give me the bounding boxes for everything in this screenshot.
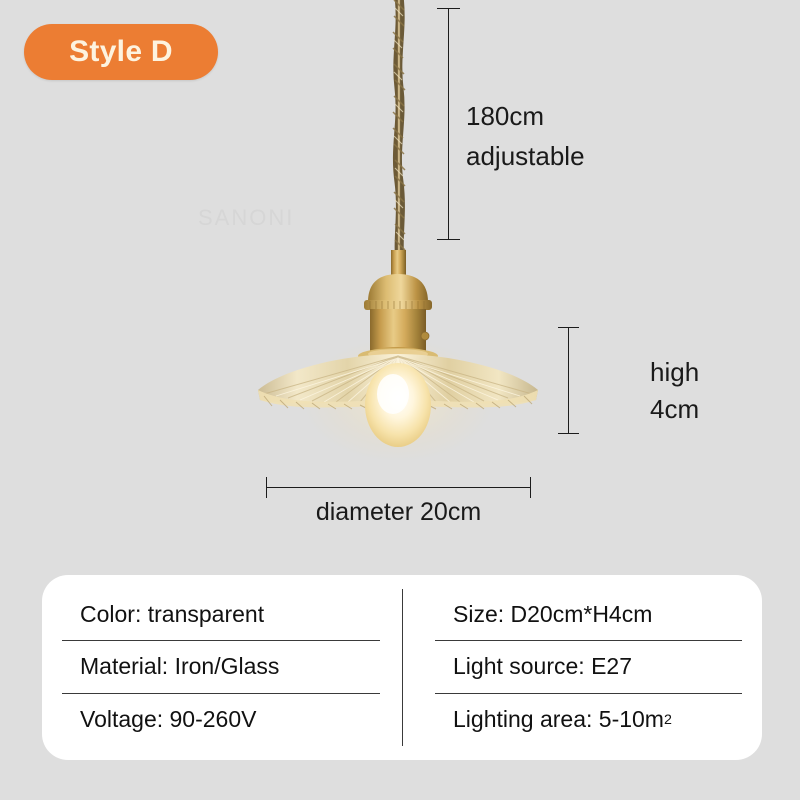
spec-row-voltage: Voltage: 90-260V bbox=[62, 694, 380, 746]
shade-height-value: 4cm bbox=[650, 391, 699, 428]
shade-height-word: high bbox=[650, 354, 699, 391]
spec-row-material: Material: Iron/Glass bbox=[62, 641, 380, 693]
style-badge-label: Style D bbox=[69, 37, 173, 67]
cord-length-label: 180cm adjustable bbox=[466, 96, 585, 176]
style-badge: Style D bbox=[24, 24, 218, 80]
diameter-label: diameter 20cm bbox=[266, 498, 531, 527]
spec-row-size: Size: D20cm*H4cm bbox=[435, 589, 742, 641]
spec-column-left: Color: transparent Material: Iron/Glass … bbox=[62, 589, 402, 746]
shade-height-dimension-line bbox=[568, 327, 569, 434]
pendant-lamp-fixture bbox=[250, 250, 550, 465]
spec-row-light-source: Light source: E27 bbox=[435, 641, 742, 693]
cord-length-dimension-line bbox=[448, 8, 449, 240]
lighting-area-text: Lighting area: 5-10m bbox=[453, 706, 664, 733]
power-cord bbox=[381, 0, 419, 264]
cord-length-note: adjustable bbox=[466, 136, 585, 176]
specification-card: Color: transparent Material: Iron/Glass … bbox=[42, 575, 762, 760]
spec-column-right: Size: D20cm*H4cm Light source: E27 Light… bbox=[402, 589, 742, 746]
spec-row-lighting-area: Lighting area: 5-10m2 bbox=[435, 694, 742, 746]
spec-row-color: Color: transparent bbox=[62, 589, 380, 641]
diameter-dimension-line bbox=[266, 487, 531, 488]
lighting-area-superscript: 2 bbox=[664, 712, 672, 728]
cord-length-value: 180cm bbox=[466, 96, 585, 136]
shade-height-label: high 4cm bbox=[650, 354, 699, 428]
product-image-canvas: SANONI Style D 180cm adjustable high 4cm… bbox=[0, 0, 800, 800]
brand-watermark: SANONI bbox=[198, 205, 294, 231]
